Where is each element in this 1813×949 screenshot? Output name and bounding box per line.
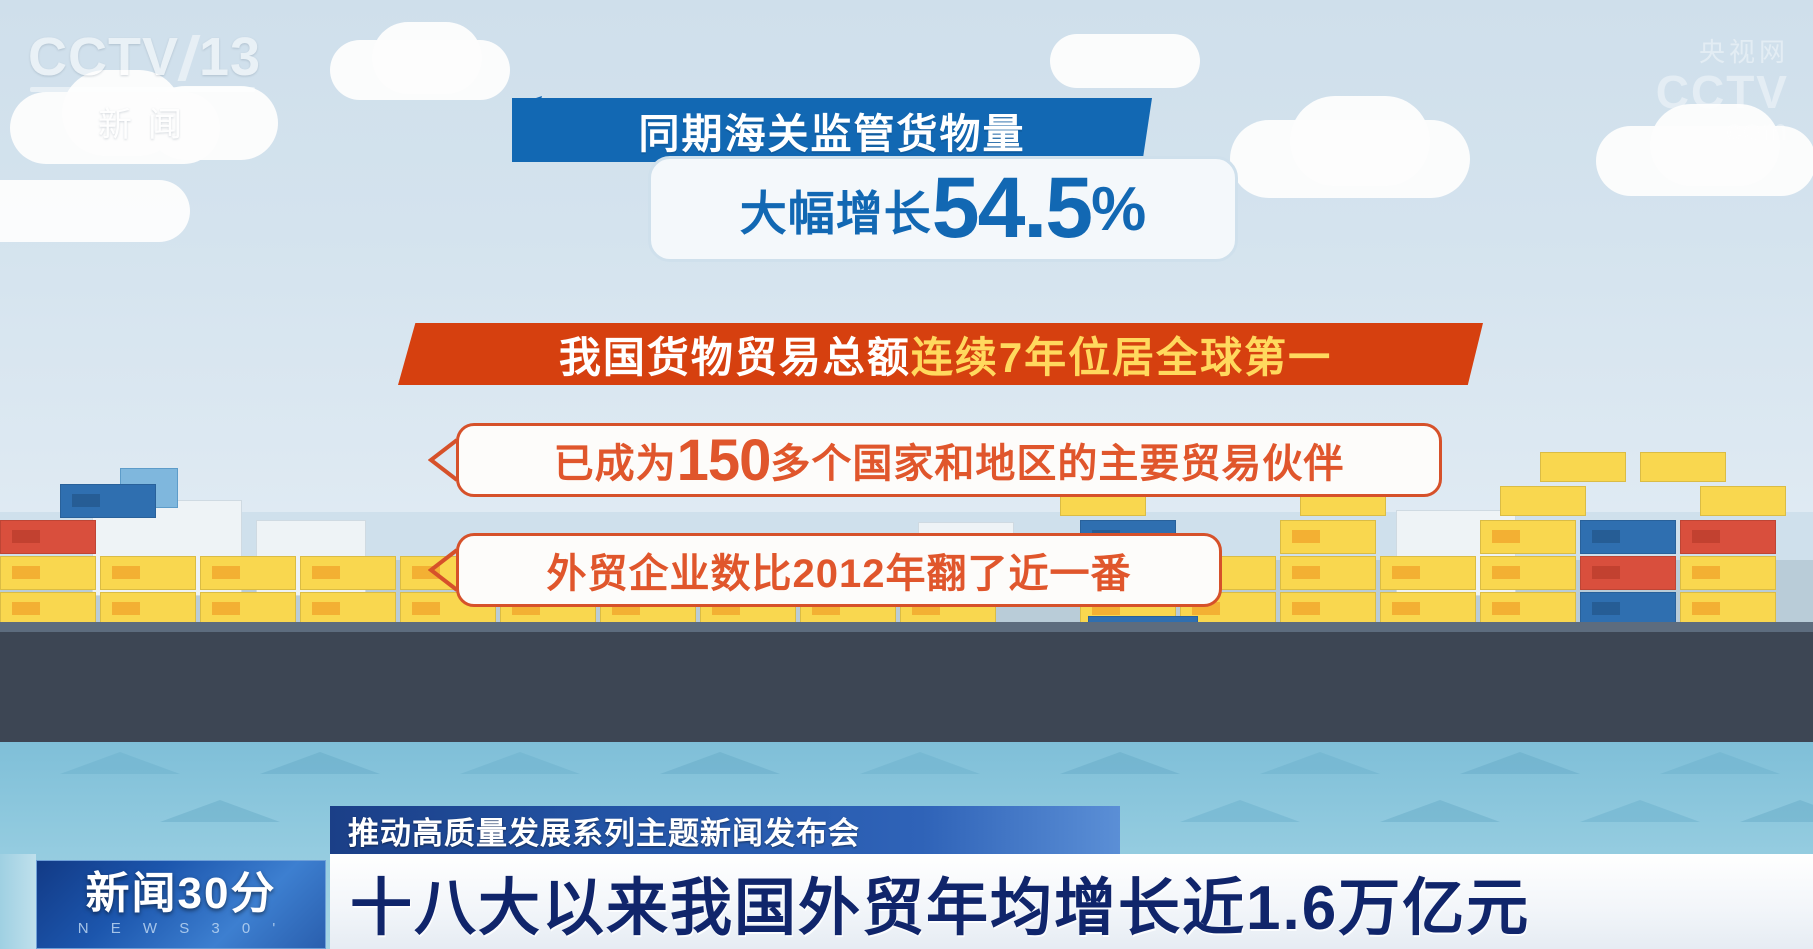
container	[100, 556, 196, 590]
container	[300, 556, 396, 590]
container	[0, 592, 96, 626]
cloud	[372, 22, 482, 94]
headline-text: 十八大以来我国外贸年均增长近1.6万亿元	[350, 857, 1530, 947]
cloud	[1650, 104, 1780, 186]
stat-percentage-card: 大幅增长54.5%	[648, 156, 1238, 262]
container	[1280, 520, 1376, 554]
container	[1680, 556, 1776, 590]
container	[1480, 520, 1576, 554]
stat-orange-banner-white-text: 我国货物贸易总额	[559, 324, 911, 385]
container	[1640, 452, 1726, 482]
stat-blue-banner-label: 同期海关监管货物量	[639, 100, 1026, 160]
stat-percentage-unit: %	[1091, 174, 1146, 245]
lower-third-left-fill	[0, 854, 36, 949]
container	[1500, 486, 1586, 516]
topic-strip: 推动高质量发展系列主题新闻发布会	[330, 806, 1120, 854]
container	[60, 484, 156, 518]
container	[1680, 520, 1776, 554]
container	[1580, 592, 1676, 626]
program-badge-english: N E W S 3 0 '	[78, 920, 285, 937]
topic-strip-label: 推动高质量发展系列主题新闻发布会	[348, 808, 860, 853]
container	[200, 592, 296, 626]
container	[100, 592, 196, 626]
container	[0, 556, 96, 590]
container	[0, 520, 96, 554]
stat-pill-1-number: 150	[677, 427, 771, 494]
program-badge-chinese: 新闻30分	[86, 872, 277, 916]
container	[1280, 592, 1376, 626]
stat-blue-banner: 同期海关监管货物量	[512, 98, 1152, 162]
container	[1280, 556, 1376, 590]
stat-pill-1-prefix: 已成为	[554, 431, 677, 489]
cloud	[1050, 34, 1200, 88]
container	[1700, 486, 1786, 516]
cloud	[148, 86, 278, 160]
container	[300, 592, 396, 626]
container	[1480, 592, 1576, 626]
container	[1580, 556, 1676, 590]
pill-notch-icon	[428, 438, 458, 482]
stat-orange-banner: 我国货物贸易总额连续7年位居全球第一	[398, 323, 1483, 385]
container	[200, 556, 296, 590]
container	[1540, 452, 1626, 482]
container	[1380, 556, 1476, 590]
broadcast-frame: CCTV13 新闻 央视网 CCTV com 同期海关监管货物量 大幅增长54.…	[0, 0, 1813, 949]
quay	[0, 632, 1813, 742]
program-badge: 新闻30分 N E W S 3 0 '	[36, 860, 326, 949]
container	[1680, 592, 1776, 626]
stat-pill-partners: 已成为150多个国家和地区的主要贸易伙伴	[456, 423, 1442, 497]
stat-pill-enterprises: 外贸企业数比2012年翻了近一番	[456, 533, 1222, 607]
stat-pill-2-prefix: 外贸企业数比2012年翻了近一番	[547, 541, 1132, 599]
container	[1380, 592, 1476, 626]
pill-notch-icon	[428, 548, 458, 592]
cloud	[1290, 96, 1430, 186]
stat-pill-1-suffix: 多个国家和地区的主要贸易伙伴	[770, 431, 1344, 489]
stat-percentage-value: 54.5	[932, 170, 1091, 247]
container	[1480, 556, 1576, 590]
headline-bar: 十八大以来我国外贸年均增长近1.6万亿元	[330, 854, 1813, 949]
container	[1580, 520, 1676, 554]
cloud	[0, 180, 190, 242]
stat-orange-banner-yellow-text: 连续7年位居全球第一	[911, 324, 1332, 385]
stat-percentage-prefix: 大幅增长	[740, 175, 932, 244]
